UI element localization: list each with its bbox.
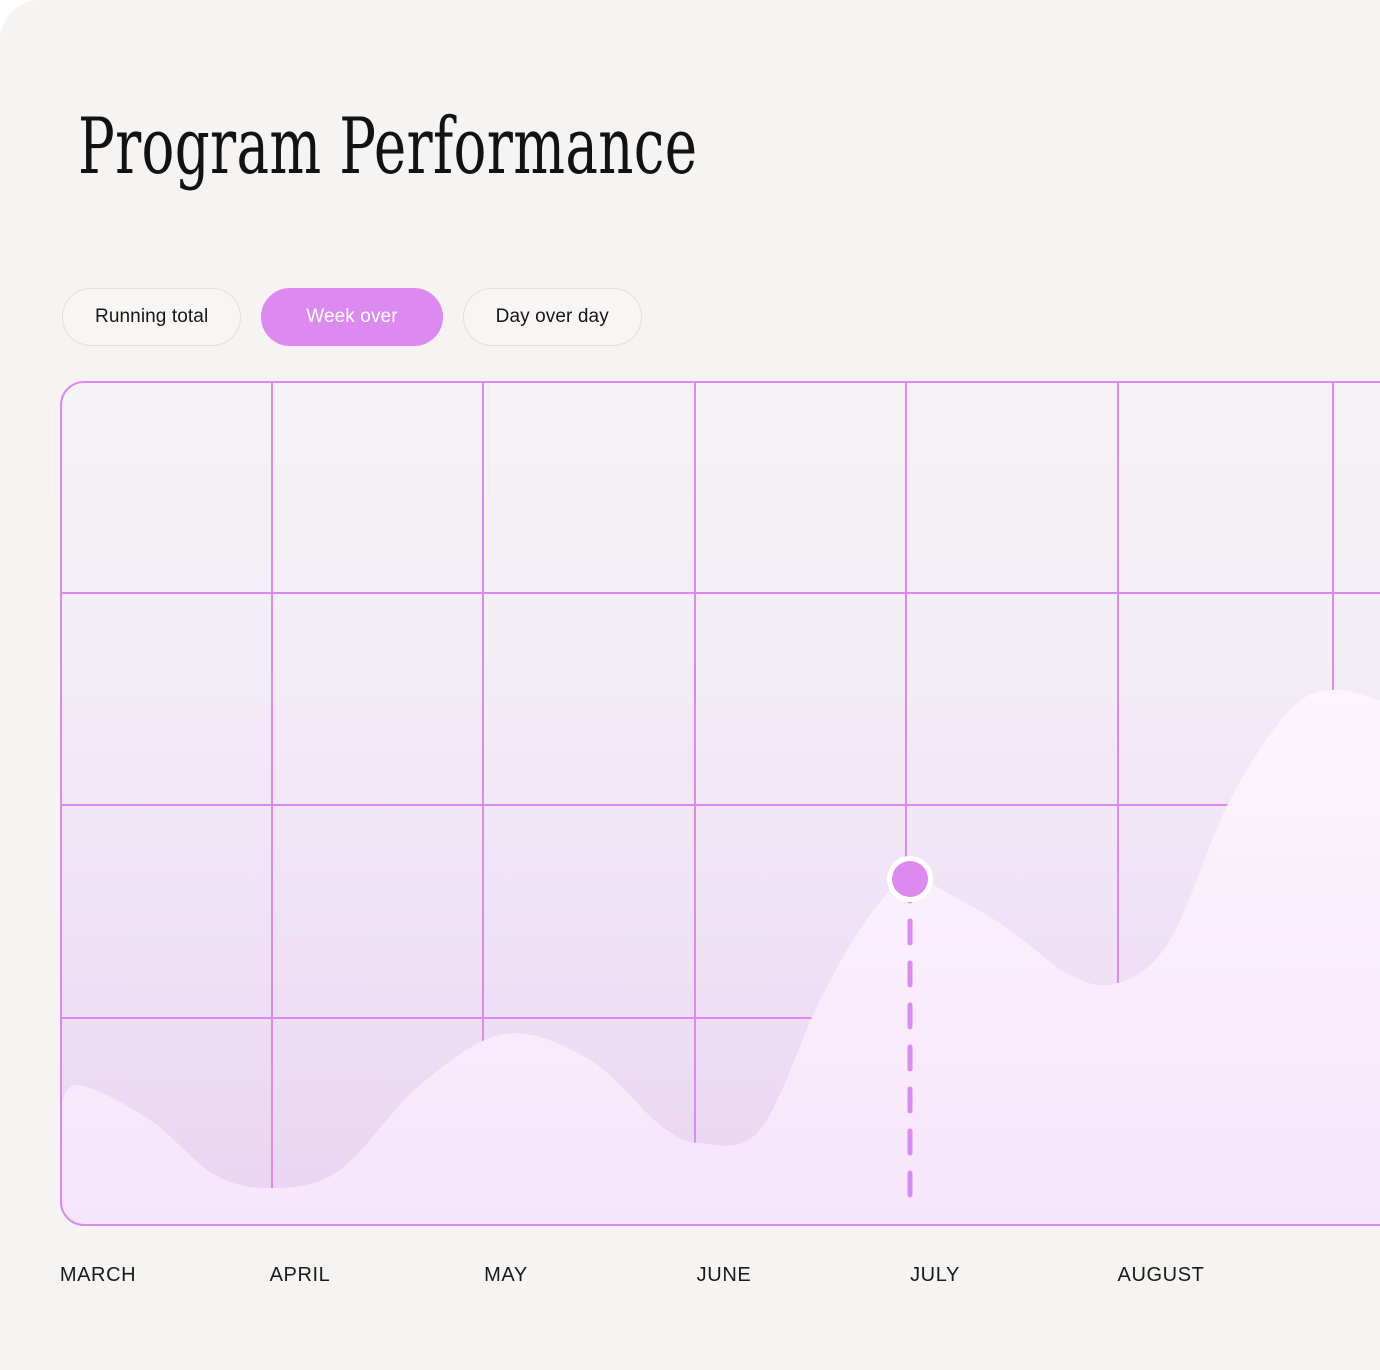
performance-area-chart[interactable]: [60, 381, 1380, 1226]
page-title: Program Performance: [78, 108, 697, 186]
x-axis-labels: MARCH APRIL MAY JUNE JULY AUGUST: [0, 1264, 1380, 1304]
x-label-april: APRIL: [270, 1264, 331, 1287]
plot-area: [60, 381, 1380, 1226]
tab-day-over-day[interactable]: Day over day: [463, 288, 642, 346]
view-mode-tabs: Running total Week over Day over day: [62, 288, 642, 346]
x-label-march: MARCH: [60, 1264, 136, 1287]
x-label-june: JUNE: [697, 1264, 752, 1287]
x-label-july: JULY: [910, 1264, 960, 1287]
x-label-may: MAY: [484, 1264, 528, 1287]
performance-chart-page: Program Performance Running total Week o…: [0, 0, 1380, 1370]
data-point-marker-july[interactable]: [892, 861, 928, 897]
tab-week-over[interactable]: Week over: [261, 288, 442, 346]
chart-svg: [60, 381, 1380, 1226]
x-label-august: AUGUST: [1118, 1264, 1205, 1287]
tab-running-total[interactable]: Running total: [62, 288, 241, 346]
